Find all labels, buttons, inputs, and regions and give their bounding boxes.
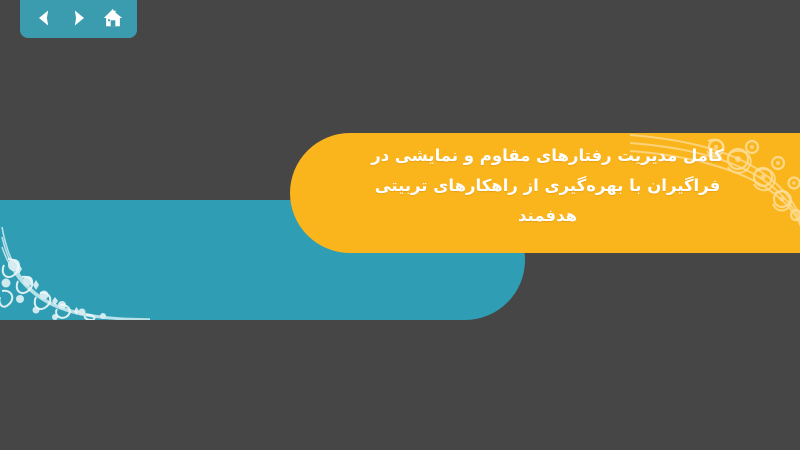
home-icon [102,7,124,29]
forward-button[interactable] [65,4,93,32]
arabesque-corner-ornament-icon [0,225,150,320]
back-button[interactable] [30,4,58,32]
triangle-right-icon [69,8,89,28]
navigation-bar [20,0,137,38]
slide-canvas: کامل مدیریت رفتارهای مقاوم و نمایشی در ف… [0,0,800,450]
home-button[interactable] [99,4,127,32]
triangle-left-icon [34,8,54,28]
orange-title-banner: کامل مدیریت رفتارهای مقاوم و نمایشی در ف… [290,133,800,253]
slide-title: کامل مدیریت رفتارهای مقاوم و نمایشی در ف… [290,141,800,231]
